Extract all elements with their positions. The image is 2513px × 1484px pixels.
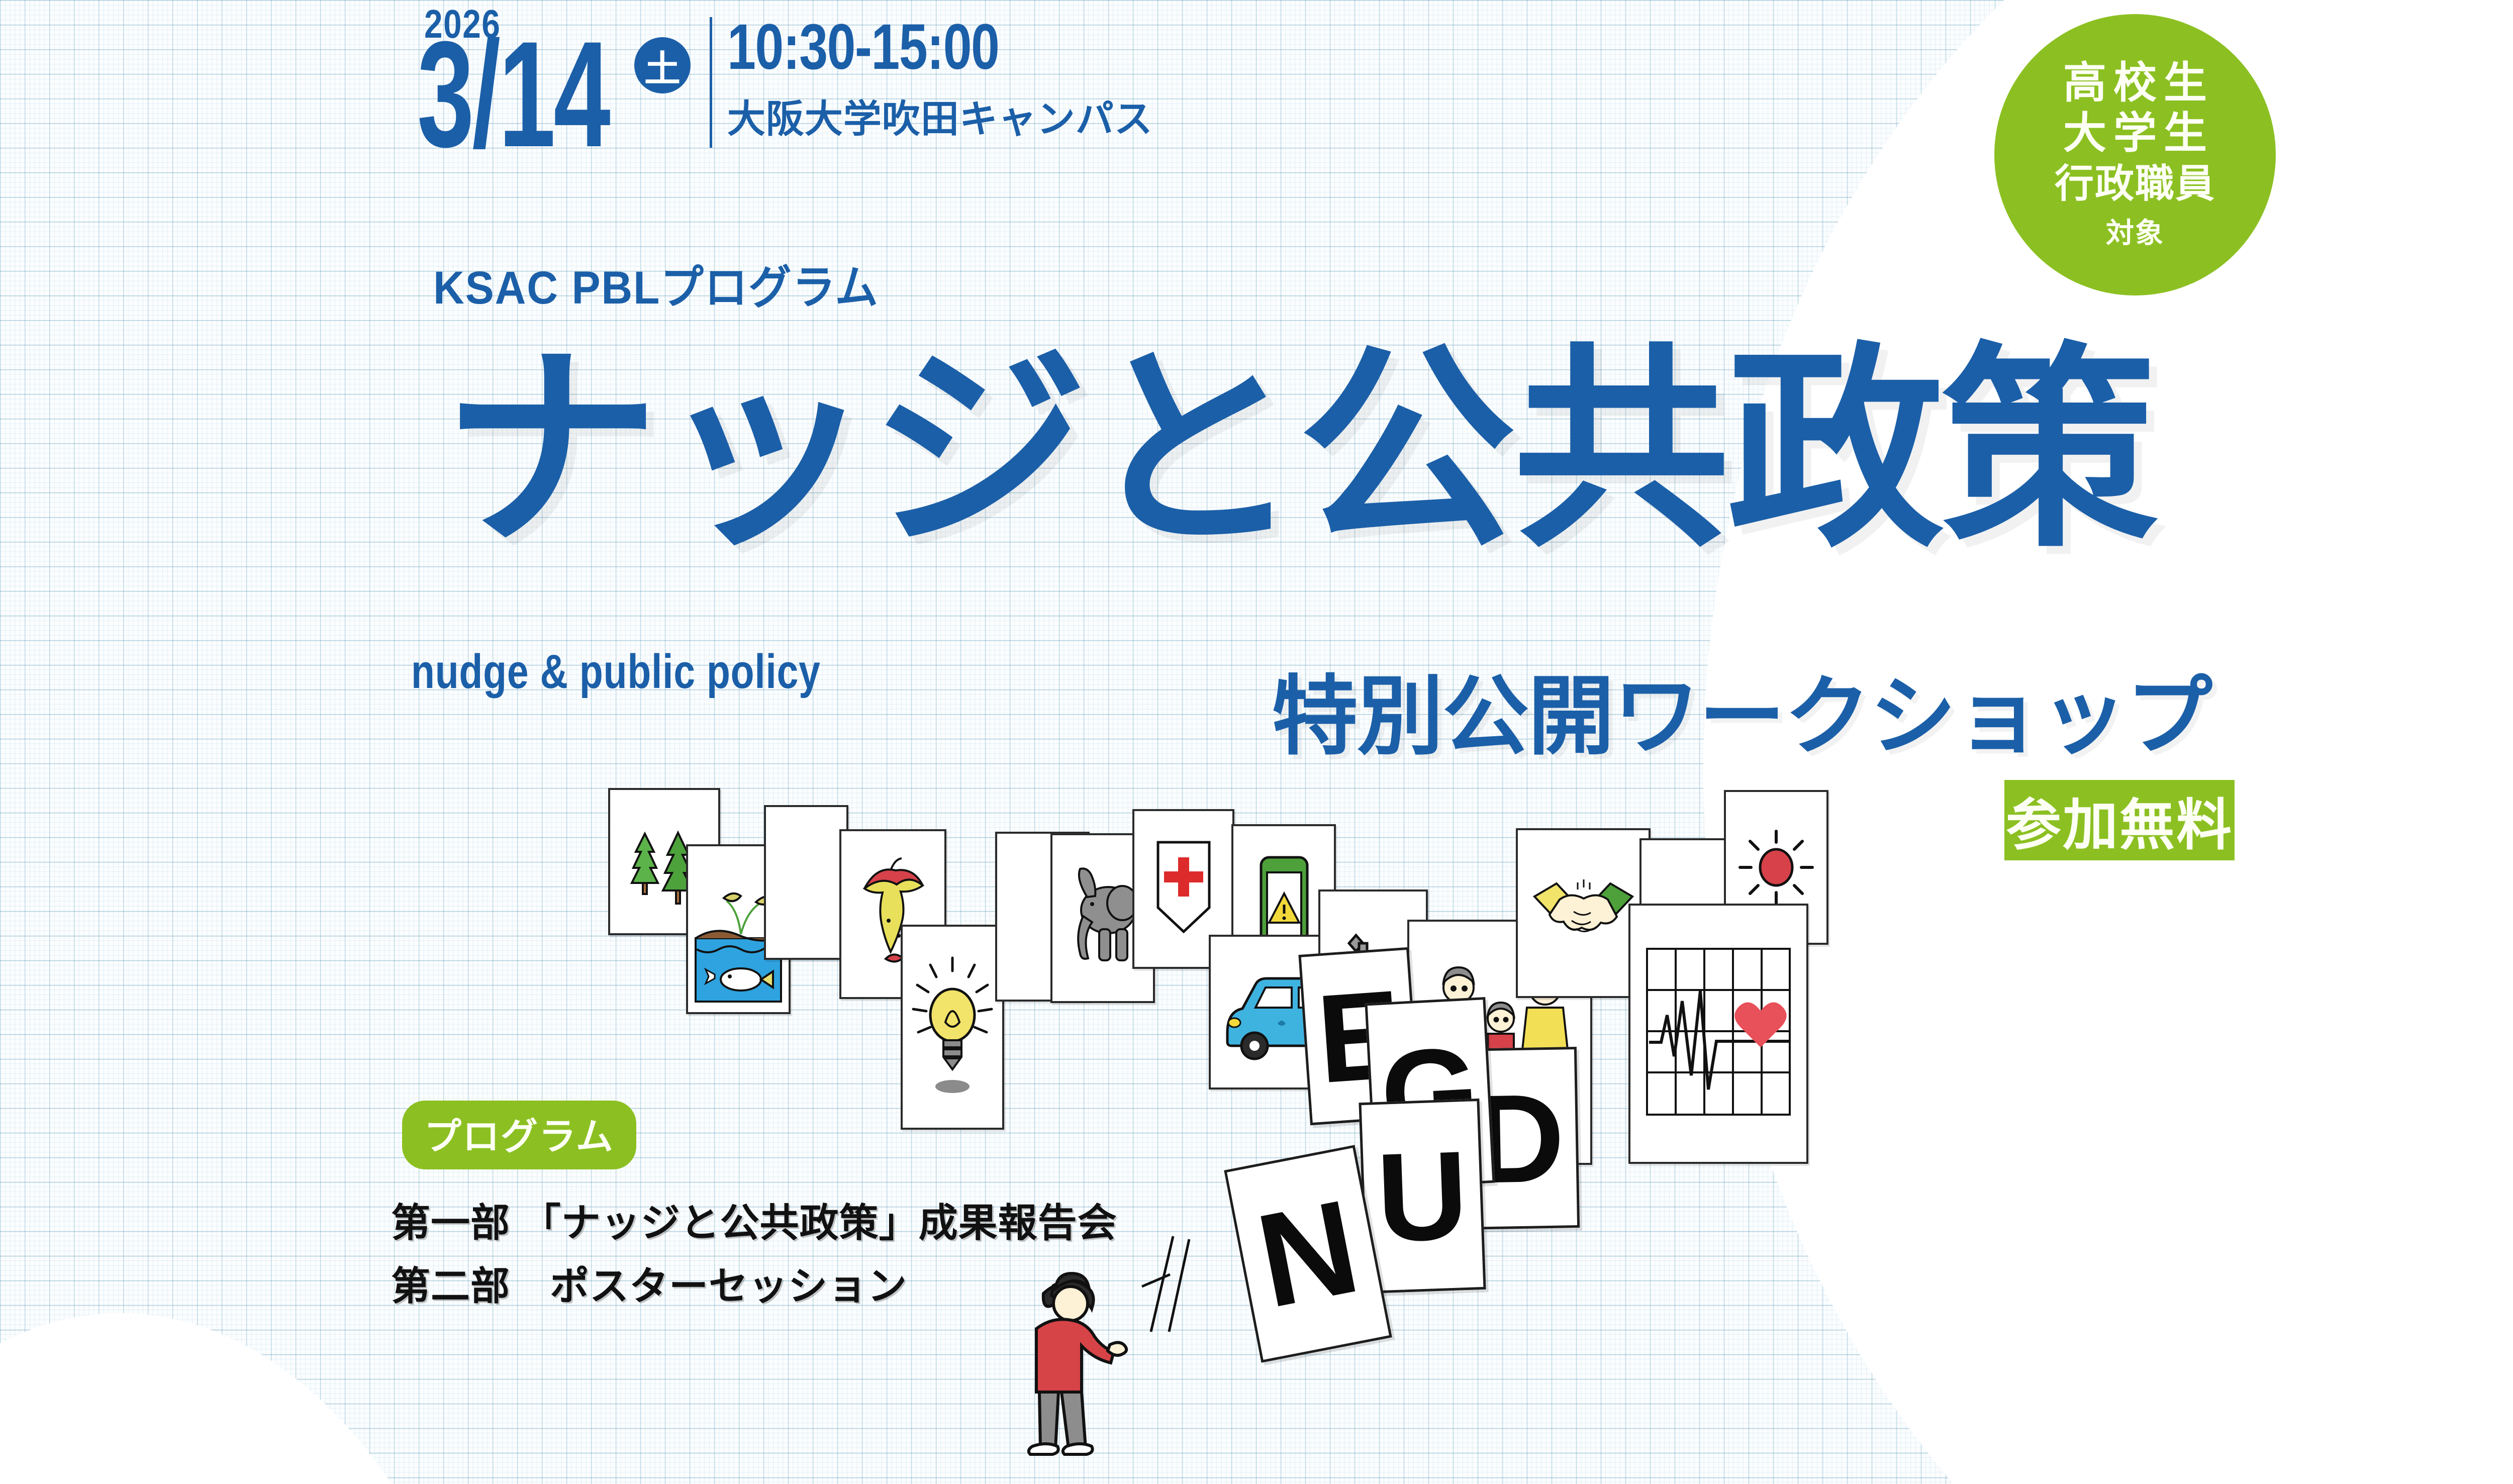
- illustration-cards: E G D U N: [593, 774, 1799, 1467]
- lightbulb-icon: [907, 947, 998, 1108]
- date-right: 10:30-15:00 大阪大学吹田キャンパス: [727, 15, 1153, 139]
- motion-lines: [1141, 1226, 1216, 1342]
- sun-icon: [1736, 827, 1816, 908]
- event-venue: 大阪大学吹田キャンパス: [727, 101, 1153, 139]
- target-line-1: 高校生: [2056, 58, 2214, 109]
- event-date-block: 2026 3/14 土 10:30-15:00 大阪大学吹田キャンパス: [417, 4, 1153, 153]
- program-label: KSAC PBLプログラム: [433, 250, 879, 317]
- event-day-of-week: 土: [634, 37, 691, 93]
- header-divider: [710, 17, 712, 148]
- red-cross-icon: [1151, 836, 1216, 942]
- date-day-row: 3/14 土: [417, 35, 691, 153]
- poster-canvas: 2026 3/14 土 10:30-15:00 大阪大学吹田キャンパス 高校生 …: [0, 0, 2513, 1484]
- page-title: ナッジと公共政策: [442, 342, 2155, 559]
- free-admission-badge: 参加無料: [2004, 780, 2235, 860]
- event-month-day: 3/14: [417, 35, 609, 153]
- workshop-subtitle: 特別公開ワークショップ: [1272, 673, 2211, 760]
- letter-card-U-label: U: [1375, 1122, 1470, 1269]
- card-blank-1: [764, 805, 848, 960]
- letter-card-N-label: N: [1246, 1169, 1370, 1338]
- event-time: 10:30-15:00: [727, 15, 1068, 79]
- target-audience-badge: 高校生 大学生 行政職員 対象: [1994, 14, 2276, 295]
- heartbeat-chart-icon: [1638, 936, 1799, 1132]
- target-line-2: 大学生: [2056, 109, 2214, 159]
- handshake-icon: [1529, 874, 1637, 952]
- card-lightbulb: [901, 925, 1004, 1130]
- english-subtitle: nudge & public policy: [411, 644, 821, 700]
- date-left: 2026 3/14 土: [417, 4, 691, 153]
- target-line-4: 対象: [2106, 211, 2164, 251]
- card-heartbeat-chart: [1628, 904, 1808, 1164]
- target-line-3: 行政職員: [2055, 160, 2215, 208]
